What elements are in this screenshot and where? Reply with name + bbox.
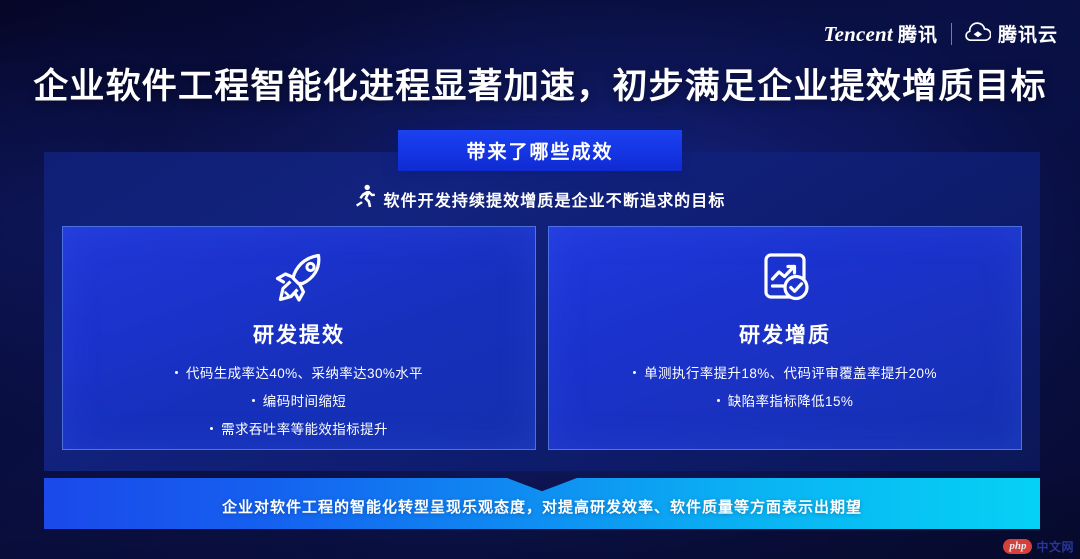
list-item-label: 代码生成率达40%、采纳率达30%水平 [186, 362, 423, 382]
list-item: 需求吞吐率等能效指标提升 [210, 418, 388, 438]
tencent-cloud-logo: 腾讯云 [965, 20, 1058, 47]
php-logo-badge: php [1003, 539, 1032, 555]
tencent-wordmark: Tencent [824, 22, 893, 47]
running-person-icon [354, 184, 376, 213]
list-item: 缺陷率指标降低15% [717, 390, 854, 410]
watermark-label: 中文网 [1036, 538, 1074, 555]
tencent-logo: Tencent 腾讯 [824, 20, 938, 47]
bullet-dot-icon [252, 399, 255, 402]
brand-lockup: Tencent 腾讯 腾讯云 [824, 20, 1059, 47]
report-check-icon [755, 247, 815, 309]
section-ribbon-label: 带来了哪些成效 [466, 137, 613, 164]
section-subtitle-text: 软件开发持续提效增质是企业不断追求的目标 [383, 187, 725, 211]
card-bullet-list: 单测执行率提升18%、代码评审覆盖率提升20% 缺陷率指标降低15% [549, 362, 1021, 410]
bullet-dot-icon [633, 371, 636, 374]
tencent-han-wordmark: 腾讯 [898, 20, 938, 47]
bullet-dot-icon [175, 371, 178, 374]
card-quality: 研发增质 单测执行率提升18%、代码评审覆盖率提升20% 缺陷率指标降低15% [548, 226, 1022, 450]
brand-divider [951, 23, 952, 45]
tencent-cloud-icon [965, 21, 991, 46]
page-title: 企业软件工程智能化进程显著加速，初步满足企业提效增质目标 [0, 66, 1080, 108]
footer-banner: 企业对软件工程的智能化转型呈现乐观态度，对提高研发效率、软件质量等方面表示出期望 [44, 478, 1040, 529]
list-item: 单测执行率提升18%、代码评审覆盖率提升20% [633, 362, 937, 382]
footer-banner-text: 企业对软件工程的智能化转型呈现乐观态度，对提高研发效率、软件质量等方面表示出期望 [222, 496, 862, 517]
rocket-icon [268, 247, 330, 309]
list-item: 编码时间缩短 [252, 390, 346, 410]
bullet-dot-icon [210, 427, 213, 430]
list-item-label: 单测执行率提升18%、代码评审覆盖率提升20% [644, 362, 937, 382]
tencent-cloud-wordmark: 腾讯云 [998, 20, 1058, 47]
list-item-label: 缺陷率指标降低15% [728, 390, 854, 410]
card-efficiency: 研发提效 代码生成率达40%、采纳率达30%水平 编码时间缩短 需求吞吐率等能效… [62, 226, 536, 450]
section-subtitle: 软件开发持续提效增质是企业不断追求的目标 [0, 184, 1080, 213]
card-title: 研发提效 [253, 319, 345, 349]
card-bullet-list: 代码生成率达40%、采纳率达30%水平 编码时间缩短 需求吞吐率等能效指标提升 [63, 362, 535, 438]
list-item-label: 需求吞吐率等能效指标提升 [221, 418, 388, 438]
section-ribbon: 带来了哪些成效 [398, 130, 682, 171]
list-item: 代码生成率达40%、采纳率达30%水平 [175, 362, 423, 382]
cards-row: 研发提效 代码生成率达40%、采纳率达30%水平 编码时间缩短 需求吞吐率等能效… [62, 226, 1022, 450]
list-item-label: 编码时间缩短 [263, 390, 346, 410]
bullet-dot-icon [717, 399, 720, 402]
card-title: 研发增质 [739, 319, 831, 349]
slide-canvas: Tencent 腾讯 腾讯云 企业软件工程智能化进程显著加速，初步满足企业提效增… [0, 0, 1080, 559]
watermark: php 中文网 [1003, 538, 1074, 555]
